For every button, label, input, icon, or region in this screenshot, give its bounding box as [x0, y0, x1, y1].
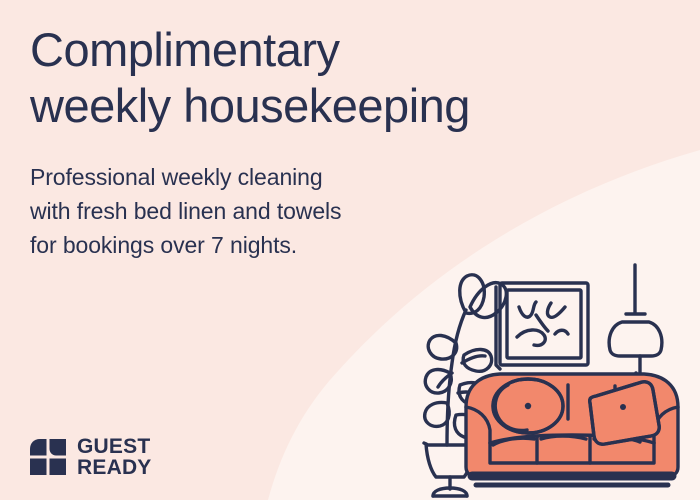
- description-text: Professional weekly cleaning with fresh …: [30, 160, 450, 262]
- guestready-quadrant-mark: [30, 439, 66, 475]
- promo-card: Complimentary weekly housekeeping Profes…: [0, 0, 700, 500]
- page-title: Complimentary weekly housekeeping: [30, 22, 650, 134]
- guestready-logo[interactable]: GUEST READY: [30, 436, 152, 478]
- logo-line-1: GUEST: [77, 436, 152, 457]
- logo-wordmark: GUEST READY: [77, 436, 152, 478]
- logo-line-2: READY: [77, 457, 152, 478]
